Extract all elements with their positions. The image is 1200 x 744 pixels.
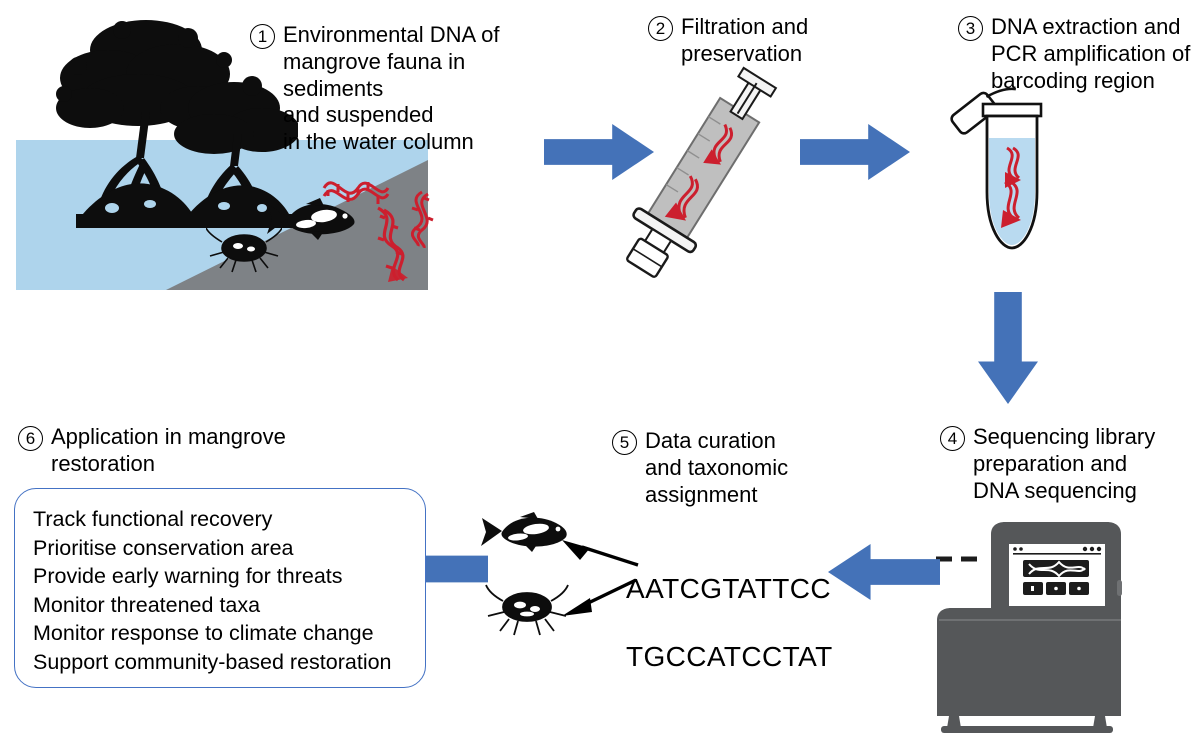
- crab-icon: [484, 580, 570, 638]
- application-list-box: Track functional recovery Prioritise con…: [14, 488, 426, 688]
- list-item: Support community-based restoration: [33, 648, 407, 677]
- step-4-caption: 4 Sequencing library preparation and DNA…: [940, 424, 1200, 504]
- step-4-text: Sequencing library preparation and DNA s…: [973, 424, 1155, 504]
- step-6-caption: 6 Application in mangrove restoration: [18, 424, 348, 478]
- step-5-text: Data curation and taxonomic assignment: [645, 428, 788, 508]
- dna-sequence-readout: AATCGTATTCC TGCCATCCTAT: [626, 538, 833, 709]
- figure-canvas: 1 Environmental DNA of mangrove fauna in…: [0, 0, 1200, 744]
- step-3-number: 3: [958, 16, 983, 41]
- step-6-text: Application in mangrove restoration: [51, 424, 286, 478]
- eppendorf-tube-icon: [935, 62, 1085, 277]
- dashed-connector-icon: [934, 552, 984, 566]
- step-5-caption: 5 Data curation and taxonomic assignment: [612, 428, 862, 508]
- syringe-filter-icon: [598, 60, 798, 290]
- list-item: Prioritise conservation area: [33, 534, 407, 563]
- dna-sequence-line-1: AATCGTATTCC: [626, 572, 833, 606]
- arrow-step2-to-step3: [800, 124, 910, 180]
- list-item: Track functional recovery: [33, 505, 407, 534]
- step-4-number: 4: [940, 426, 965, 451]
- list-item: Monitor response to climate change: [33, 619, 407, 648]
- arrow-step3-to-step4: [978, 292, 1038, 404]
- step-1-caption: 1 Environmental DNA of mangrove fauna in…: [250, 22, 570, 156]
- step-1-number: 1: [250, 24, 275, 49]
- step-6-number: 6: [18, 426, 43, 451]
- dna-helix-icon: [368, 206, 414, 282]
- step-2-number: 2: [648, 16, 673, 41]
- dna-sequence-line-2: TGCCATCCTAT: [626, 640, 833, 674]
- list-item: Provide early warning for threats: [33, 562, 407, 591]
- application-list: Track functional recovery Prioritise con…: [33, 505, 407, 677]
- arrow-step4-to-step5: [828, 544, 940, 600]
- assignment-arrow-to-fish-icon: [560, 538, 640, 570]
- dna-helix-icon: [320, 168, 390, 210]
- step-1-text: Environmental DNA of mangrove fauna in s…: [283, 22, 570, 156]
- step-5-number: 5: [612, 430, 637, 455]
- list-item: Monitor threatened taxa: [33, 591, 407, 620]
- fish-icon: [478, 510, 570, 554]
